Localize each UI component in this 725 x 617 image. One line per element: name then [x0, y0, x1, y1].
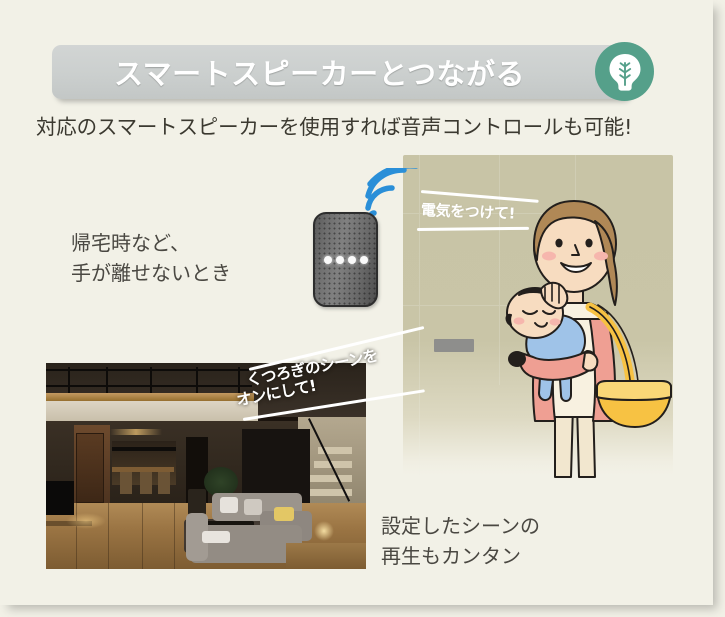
- bubble-text: 電気をつけて!: [421, 199, 516, 224]
- photo-chair: [158, 472, 170, 494]
- bubble-line-bottom: [417, 227, 529, 231]
- photo-cushion: [244, 499, 262, 515]
- caption-left-line2: 手が離せないとき: [71, 258, 231, 288]
- photo-wood-door: [76, 433, 104, 503]
- photo-floor-plank: [142, 503, 143, 569]
- caption-bottom-line2: 再生もカンタン: [381, 541, 540, 571]
- speaker-led: [336, 256, 344, 264]
- photo-kitchen-shelf: [112, 447, 176, 451]
- speaker-led-row: [315, 256, 376, 264]
- speech-bubble-turn-on-light: 電気をつけて!: [417, 186, 539, 234]
- photo-floor-glow: [66, 513, 106, 529]
- photo-rail-post: [196, 367, 198, 393]
- photo-ceiling-beam: [46, 401, 258, 423]
- subtitle-text: 対応のスマートスピーカーを使用すれば音声コントロールも可能!: [36, 110, 632, 140]
- photo-wood-ledge: [46, 393, 254, 401]
- caption-left-line1: 帰宅時など、: [71, 228, 231, 258]
- photo-side-table: [188, 489, 206, 515]
- photo-cushion: [220, 497, 238, 513]
- photo-lamp-glow: [314, 521, 334, 541]
- photo-cushion-yellow: [274, 507, 294, 521]
- photo-stair-step: [310, 475, 352, 482]
- photo-chair: [120, 472, 132, 494]
- photo-rail-post: [150, 367, 152, 393]
- speaker-led: [348, 256, 356, 264]
- photo-chair: [140, 472, 152, 494]
- speech-bubble-relax-scene: くつろぎのシーンを オンにして!: [243, 352, 428, 422]
- caption-bottom: 設定したシーンの 再生もカンタン: [381, 511, 540, 571]
- photo-floor-plank: [174, 503, 175, 569]
- photo-loft-rail: [46, 369, 252, 371]
- photo-rail-post: [68, 367, 70, 393]
- photo-rail-post: [238, 367, 240, 393]
- speaker-led: [360, 256, 368, 264]
- photo-rail-post: [106, 367, 108, 393]
- smart-speaker-icon: [313, 212, 378, 307]
- wall-switch-icon: [434, 339, 474, 352]
- light-bulb-sprout-icon: [595, 42, 654, 101]
- photo-raised-step: [286, 543, 366, 569]
- photo-tv: [46, 481, 74, 515]
- smart-speaker-feature-card: スマートスピーカーとつながる 対応のスマートスピーカーを使用すれば音声コントロー…: [0, 0, 725, 617]
- photo-floor-plank: [108, 503, 109, 569]
- photo-loft-rail: [46, 385, 252, 387]
- caption-left: 帰宅時など、 手が離せないとき: [71, 228, 231, 288]
- photo-throw-blanket: [202, 531, 230, 543]
- speaker-led: [324, 256, 332, 264]
- page-title: スマートスピーカーとつながる: [52, 45, 630, 99]
- photo-wall-glow: [110, 429, 162, 435]
- caption-bottom-line1: 設定したシーンの: [381, 511, 540, 541]
